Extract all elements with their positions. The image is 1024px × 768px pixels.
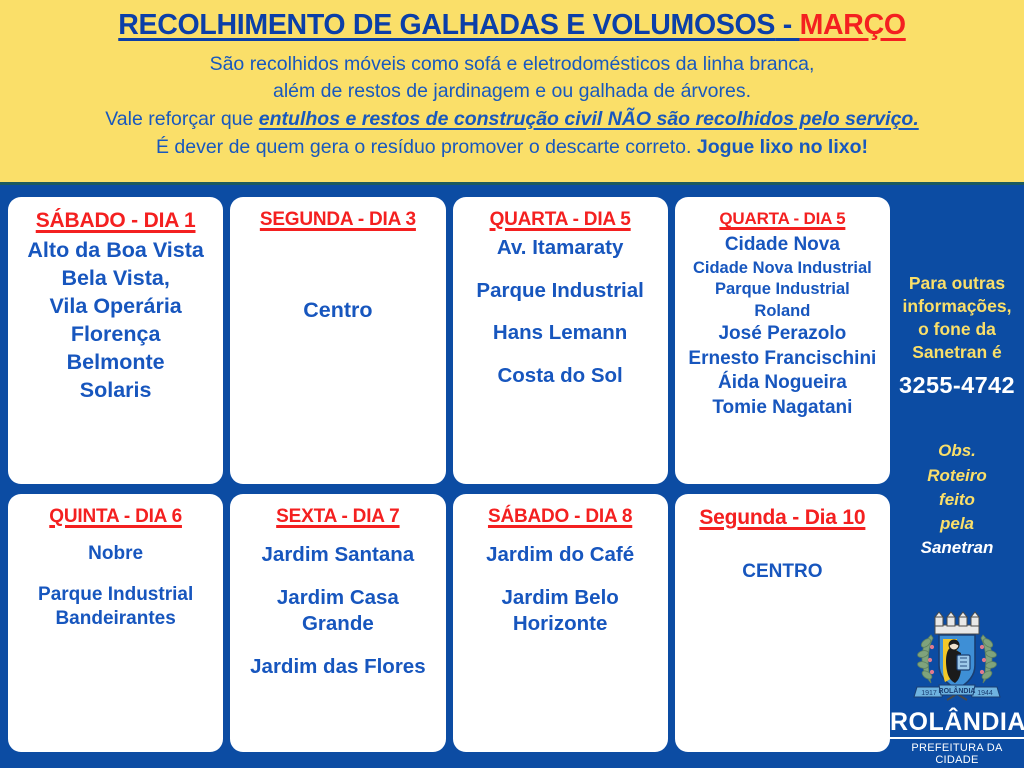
poster-root: RECOLHIMENTO DE GALHADAS E VOLUMOSOS - M… bbox=[0, 0, 1024, 768]
list-item: Jardim Santana bbox=[236, 542, 439, 569]
list-item: Hans Lemann bbox=[459, 320, 662, 347]
observation-line-3: feito bbox=[890, 488, 1024, 512]
contact-info-text: Para outras informações, o fone da Sanet… bbox=[890, 272, 1024, 364]
schedule-card-quarta-dia-5-b[interactable]: QUARTA - DIA 5 Cidade Nova Cidade Nova I… bbox=[675, 197, 890, 484]
card-day-header: QUARTA - DIA 5 bbox=[719, 209, 845, 229]
list-item: Jardim do Café bbox=[459, 542, 662, 569]
page-title: RECOLHIMENTO DE GALHADAS E VOLUMOSOS - M… bbox=[10, 8, 1014, 43]
list-spacer bbox=[459, 304, 662, 320]
schedule-card-sabado-dia-8[interactable]: SÁBADO - DIA 8 Jardim do Café Jardim Bel… bbox=[453, 494, 668, 752]
schedule-card-segunda-dia-10[interactable]: Segunda - Dia 10 CENTRO bbox=[675, 494, 890, 752]
card-day-header: SEGUNDA - DIA 3 bbox=[260, 209, 416, 231]
contact-info-line-2: informações, bbox=[890, 295, 1024, 318]
observation-line-4: pela bbox=[890, 512, 1024, 536]
list-item: Parque Industrial bbox=[459, 278, 662, 305]
title-main-text: RECOLHIMENTO DE GALHADAS E VOLUMOSOS bbox=[118, 9, 775, 41]
list-item: Jardim Casa bbox=[236, 585, 439, 612]
list-item: Parque Industrial bbox=[681, 279, 884, 300]
brand-subtitle: PREFEITURA DA CIDADE bbox=[890, 742, 1024, 766]
list-spacer bbox=[459, 347, 662, 363]
list-spacer bbox=[459, 569, 662, 585]
card-neighborhood-list: Jardim do Café Jardim Belo Horizonte bbox=[459, 532, 662, 638]
card-neighborhood-list: CENTRO bbox=[681, 534, 884, 585]
contact-info-line-1: Para outras bbox=[890, 272, 1024, 295]
list-item: Roland bbox=[681, 301, 884, 322]
schedule-row-1: SÁBADO - DIA 1 Alto da Boa Vista Bela Vi… bbox=[8, 197, 890, 484]
list-item: Costa do Sol bbox=[459, 363, 662, 390]
contact-phone-number[interactable]: 3255-4742 bbox=[890, 372, 1024, 399]
poster-header: RECOLHIMENTO DE GALHADAS E VOLUMOSOS - M… bbox=[0, 0, 1024, 185]
list-item: Florença bbox=[14, 321, 217, 349]
list-item: Belmonte bbox=[14, 349, 217, 377]
list-item: Horizonte bbox=[459, 611, 662, 638]
list-item: Centro bbox=[236, 297, 439, 325]
description-line-3: Vale reforçar que entulhos e restos de c… bbox=[10, 106, 1014, 134]
schedule-row-2: QUINTA - DIA 6 Nobre Parque Industrial B… bbox=[8, 494, 890, 752]
title-separator: - bbox=[775, 9, 799, 41]
schedule-card-sabado-dia-1[interactable]: SÁBADO - DIA 1 Alto da Boa Vista Bela Vi… bbox=[8, 197, 223, 484]
crest-year-left: 1917 bbox=[921, 690, 937, 697]
list-item: Bandeirantes bbox=[14, 607, 217, 632]
contact-info-line-4: Sanetran é bbox=[890, 341, 1024, 364]
card-neighborhood-list: Av. Itamaraty Parque Industrial Hans Lem… bbox=[459, 235, 662, 390]
observation-line-2: Roteiro bbox=[890, 464, 1024, 488]
list-spacer bbox=[14, 567, 217, 583]
list-spacer bbox=[236, 532, 439, 542]
list-item: Cidade Nova Industrial bbox=[681, 258, 884, 279]
list-item: Grande bbox=[236, 611, 439, 638]
list-spacer bbox=[459, 532, 662, 542]
card-neighborhood-list: Jardim Santana Jardim Casa Grande Jardim… bbox=[236, 532, 439, 681]
card-neighborhood-list: Nobre Parque Industrial Bandeirantes bbox=[14, 532, 217, 632]
rolandia-coat-of-arms-icon: 1917 1944 ROLÂNDIA bbox=[905, 605, 1009, 709]
list-item: Nobre bbox=[14, 542, 217, 567]
card-neighborhood-list: Alto da Boa Vista Bela Vista, Vila Operá… bbox=[14, 237, 217, 405]
card-day-header: QUINTA - DIA 6 bbox=[49, 506, 182, 528]
list-item: Av. Itamaraty bbox=[459, 235, 662, 262]
list-spacer bbox=[236, 638, 439, 654]
list-item: Vila Operária bbox=[14, 293, 217, 321]
list-item: Cidade Nova bbox=[681, 233, 884, 258]
card-day-header: QUARTA - DIA 5 bbox=[490, 209, 631, 231]
crest-ribbon: 1917 1944 ROLÂNDIA bbox=[914, 685, 1000, 697]
list-item: Bela Vista, bbox=[14, 265, 217, 293]
list-item: Jardim Belo bbox=[459, 585, 662, 612]
card-day-header: Segunda - Dia 10 bbox=[699, 506, 865, 530]
brand-city-name: ROLÂNDIA bbox=[890, 710, 1024, 739]
list-item: Áida Nogueira bbox=[681, 371, 884, 396]
description-line-2: além de restos de jardinagem e ou galhad… bbox=[10, 78, 1014, 106]
schedule-card-quarta-dia-5-a[interactable]: QUARTA - DIA 5 Av. Itamaraty Parque Indu… bbox=[453, 197, 668, 484]
mural-crown-icon bbox=[935, 612, 979, 634]
list-item: Tomie Nagatani bbox=[681, 396, 884, 421]
list-item: CENTRO bbox=[681, 560, 884, 585]
crest-ribbon-name: ROLÂNDIA bbox=[939, 686, 976, 695]
contact-info-line-3: o fone da bbox=[890, 318, 1024, 341]
crest-year-right: 1944 bbox=[977, 690, 993, 697]
description-line-3-plain: Vale reforçar que bbox=[105, 108, 259, 130]
list-item: Ernesto Francischini bbox=[681, 347, 884, 372]
list-item: Solaris bbox=[14, 377, 217, 405]
observation-line-1: Obs. bbox=[890, 439, 1024, 463]
description-line-1: São recolhidos móveis como sofá e eletro… bbox=[10, 51, 1014, 79]
schedule-card-segunda-dia-3[interactable]: SEGUNDA - DIA 3 Centro bbox=[230, 197, 445, 484]
list-item: José Perazolo bbox=[681, 322, 884, 347]
schedule-card-quinta-dia-6[interactable]: QUINTA - DIA 6 Nobre Parque Industrial B… bbox=[8, 494, 223, 752]
description-line-4-plain: É dever de quem gera o resíduo promover … bbox=[156, 136, 697, 158]
observation-line-5: Sanetran bbox=[890, 536, 1024, 560]
city-hall-brand: 1917 1944 ROLÂNDIA ROLÂNDIA PREFEITURA D… bbox=[890, 605, 1024, 766]
list-item: Alto da Boa Vista bbox=[14, 237, 217, 265]
card-neighborhood-list: Cidade Nova Cidade Nova Industrial Parqu… bbox=[681, 233, 884, 421]
schedule-card-sexta-dia-7[interactable]: SEXTA - DIA 7 Jardim Santana Jardim Casa… bbox=[230, 494, 445, 752]
description-line-4: É dever de quem gera o resíduo promover … bbox=[10, 134, 1014, 162]
list-spacer bbox=[14, 532, 217, 542]
list-spacer bbox=[236, 569, 439, 585]
card-day-header: SÁBADO - DIA 1 bbox=[36, 209, 196, 233]
observation-note: Obs. Roteiro feito pela Sanetran bbox=[890, 439, 1024, 560]
list-item: Parque Industrial bbox=[14, 583, 217, 608]
description-line-3-emphasis: entulhos e restos de construção civil NÃ… bbox=[259, 108, 919, 130]
schedule-grid: SÁBADO - DIA 1 Alto da Boa Vista Bela Vi… bbox=[8, 197, 890, 752]
card-day-header: SÁBADO - DIA 8 bbox=[488, 506, 632, 528]
list-item: Jardim das Flores bbox=[236, 654, 439, 681]
description-line-4-emphasis: Jogue lixo no lixo! bbox=[697, 136, 868, 158]
title-month-text: MARÇO bbox=[800, 9, 906, 41]
card-neighborhood-list: Centro bbox=[236, 235, 439, 325]
header-description: São recolhidos móveis como sofá e eletro… bbox=[10, 51, 1014, 162]
list-spacer bbox=[459, 262, 662, 278]
card-day-header: SEXTA - DIA 7 bbox=[276, 506, 399, 528]
